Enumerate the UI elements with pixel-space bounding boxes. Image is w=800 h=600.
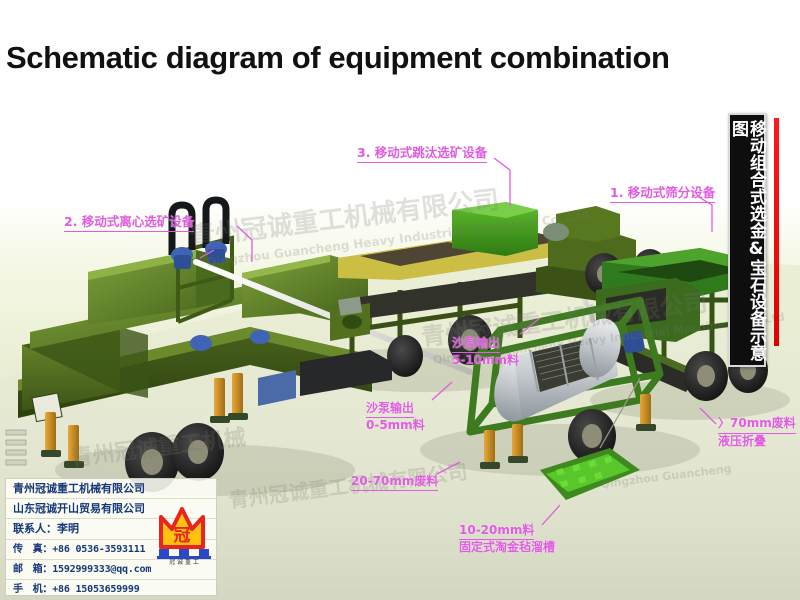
crown-logo-caption: 冠 诚 重 工: [169, 558, 199, 565]
annotation-waste-20-70: 20-70mm废料: [351, 472, 438, 491]
vertical-banner-text: 移动组合式选金&宝石设备示意图: [729, 115, 765, 365]
annotation-pump-out-5-10: 沙泵输出 5-10mm料: [452, 336, 519, 368]
svg-text:冠: 冠: [174, 526, 191, 546]
crown-logo-icon: 冠 冠 诚 重 工: [155, 503, 223, 565]
schematic-canvas: 青州冠诚重工机械有限公司 Qingzhou Guancheng Heavy In…: [0, 0, 800, 600]
page-title: Schematic diagram of equipment combinati…: [6, 40, 670, 76]
annotation-label-3: 3. 移动式跳汰选矿设备: [357, 142, 487, 163]
annotation-waste-over-70: 〉70mm废料 液压折叠: [718, 416, 796, 449]
annotation-label-1: 1. 移动式筛分设备: [610, 182, 715, 203]
annotation-pump-out-0-5: 沙泵输出 0-5mm料: [366, 401, 425, 433]
annotation-sluice-10-20: 10-20mm料 固定式淘金毡溜槽: [459, 523, 555, 555]
vertical-banner: 移动组合式选金&宝石设备示意图: [728, 113, 766, 367]
contact-row-mobile: 手 机：+86 15053659999: [6, 580, 216, 599]
contact-row-company-1: 青州冠诚重工机械有限公司: [6, 479, 216, 499]
red-accent-bar: [774, 118, 779, 346]
annotation-label-2: 2. 移动式离心选矿设备: [64, 211, 194, 232]
